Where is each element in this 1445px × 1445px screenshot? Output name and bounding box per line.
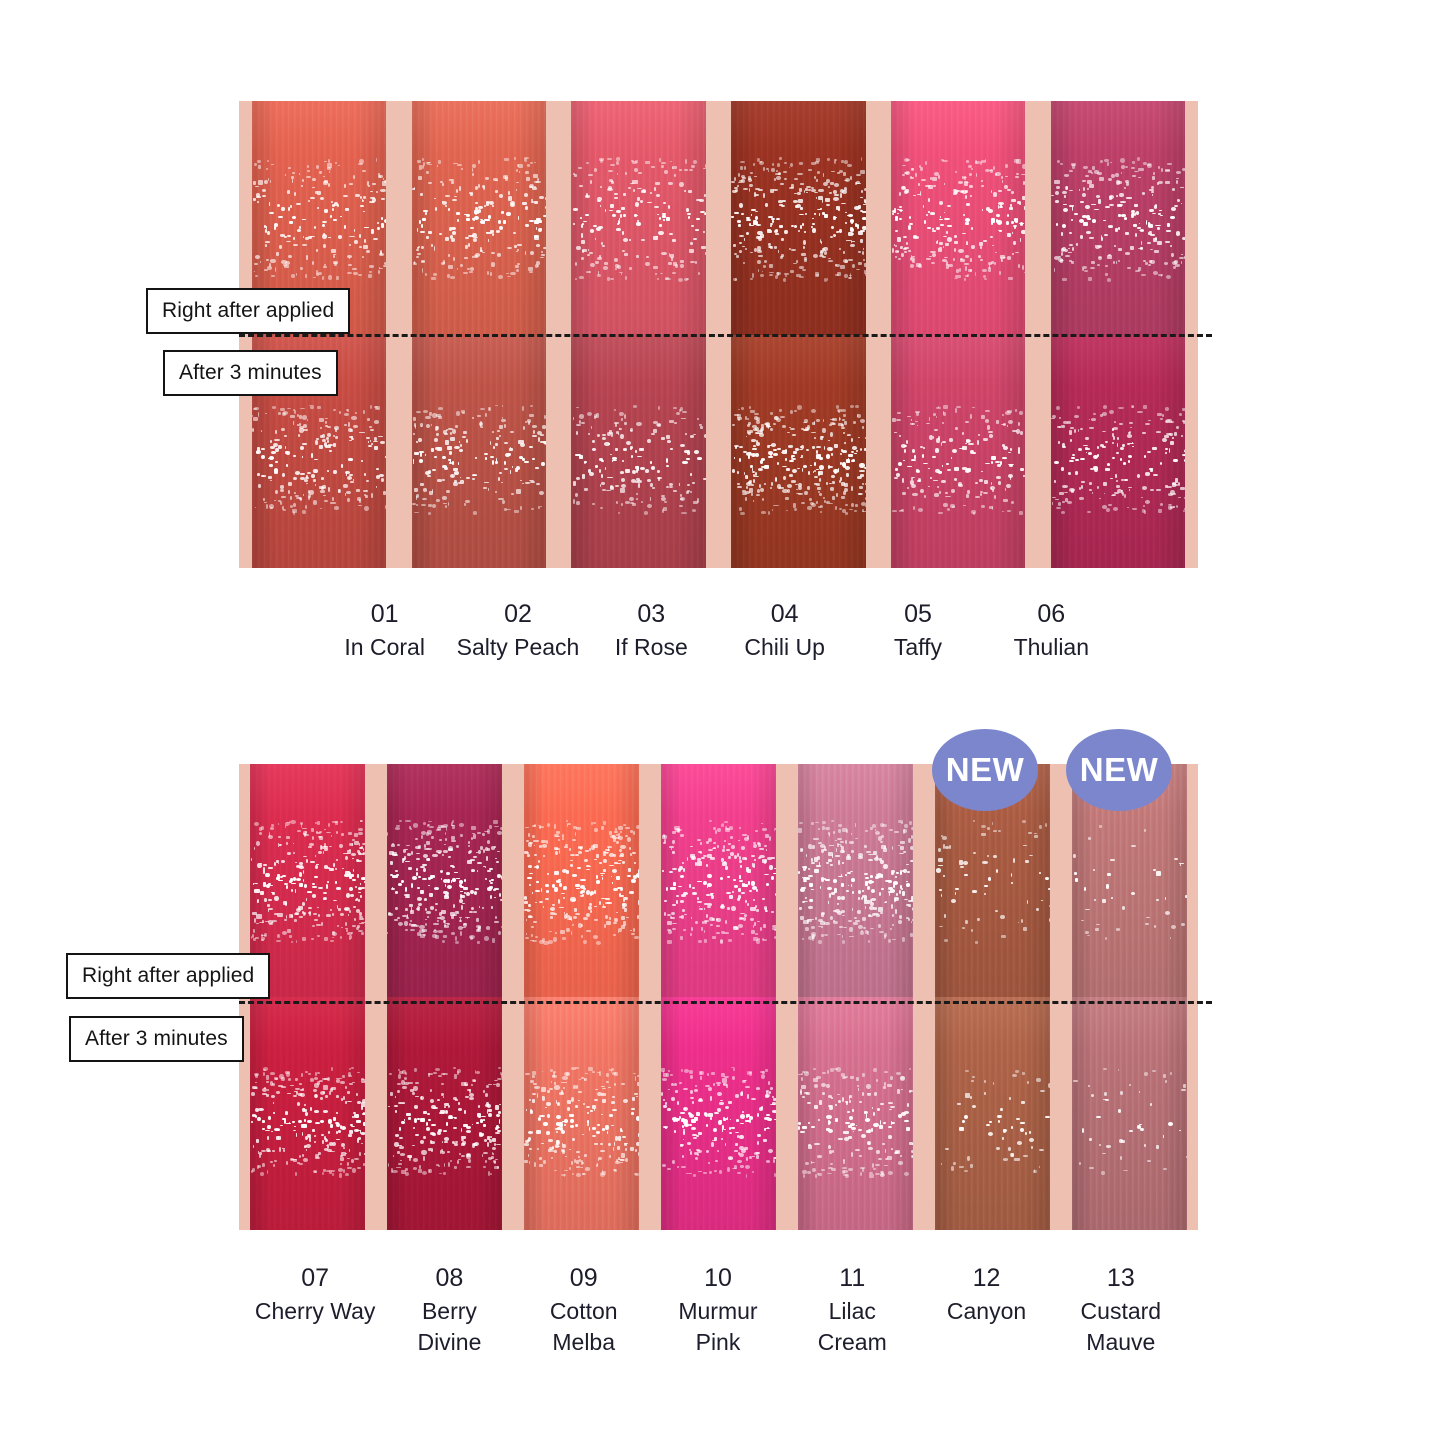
swatch-column-10 xyxy=(650,764,787,1230)
shade-number: 06 xyxy=(985,598,1118,632)
shade-caption-12: 12Canyon xyxy=(919,1262,1053,1358)
shade-caption-10: 10Murmur Pink xyxy=(651,1262,785,1358)
shade-name: Chili Up xyxy=(718,632,851,663)
swatch-stripe xyxy=(571,101,705,335)
new-badge-canyon: NEW xyxy=(932,729,1038,811)
time-divider-line xyxy=(239,1001,1212,1004)
shade-caption-07: 07Cherry Way xyxy=(248,1262,382,1358)
swatch-board xyxy=(239,764,1198,1230)
label-right-after-applied-2: Right after applied xyxy=(66,953,270,999)
shade-name: Lilac Cream xyxy=(785,1296,919,1358)
swatch-top-gloss xyxy=(935,997,1050,1230)
label-after-3-minutes-1: After 3 minutes xyxy=(163,350,338,396)
swatch-top-gloss xyxy=(661,764,776,997)
swatch-panel-07-13 xyxy=(239,764,1198,1230)
shade-name: Canyon xyxy=(919,1296,1053,1327)
swatch-top-gloss xyxy=(387,764,502,997)
shade-name: Taffy xyxy=(851,632,984,663)
swatch-stripe xyxy=(524,997,639,1230)
swatch-top-gloss xyxy=(661,997,776,1230)
shade-caption-08: 08Berry Divine xyxy=(382,1262,516,1358)
swatch-stripe xyxy=(250,997,365,1230)
swatch-column-12 xyxy=(924,764,1061,1230)
swatch-stripe xyxy=(387,764,502,997)
shade-name: Custard Mauve xyxy=(1054,1296,1188,1358)
shade-number: 12 xyxy=(919,1262,1053,1296)
shade-caption-04: 04Chili Up xyxy=(718,598,851,663)
swatch-stripe xyxy=(661,764,776,997)
shade-number: 09 xyxy=(517,1262,651,1296)
shade-number: 03 xyxy=(585,598,718,632)
swatch-stripe xyxy=(798,764,913,997)
swatch-column-09 xyxy=(513,764,650,1230)
shade-caption-09: 09Cotton Melba xyxy=(517,1262,651,1358)
label-after-3-minutes-2: After 3 minutes xyxy=(69,1016,244,1062)
swatch-top-gloss xyxy=(571,335,705,569)
swatch-stripe xyxy=(1051,101,1185,335)
swatch-stripe xyxy=(1051,335,1185,569)
swatch-stripe xyxy=(731,101,865,335)
shade-caption-03: 03If Rose xyxy=(585,598,718,663)
swatch-strip xyxy=(798,764,913,1230)
swatch-stripe xyxy=(387,997,502,1230)
shade-caption-11: 11Lilac Cream xyxy=(785,1262,919,1358)
swatch-strip xyxy=(524,764,639,1230)
swatch-top-gloss xyxy=(1051,335,1185,569)
swatch-strip xyxy=(661,764,776,1230)
label-right-after-applied-1: Right after applied xyxy=(146,288,350,334)
swatch-stripe xyxy=(661,997,776,1230)
time-divider-line xyxy=(239,334,1212,337)
shade-captions-07-13: 07Cherry Way08Berry Divine09Cotton Melba… xyxy=(248,1262,1188,1358)
swatch-stripe xyxy=(935,997,1050,1230)
shade-captions-01-06: 01In Coral02Salty Peach03If Rose04Chili … xyxy=(318,598,1118,663)
swatch-top-gloss xyxy=(891,335,1025,569)
shade-name: In Coral xyxy=(318,632,451,663)
swatch-top-gloss xyxy=(798,997,913,1230)
swatch-top-gloss xyxy=(731,335,865,569)
swatch-strip xyxy=(1072,764,1187,1230)
swatch-panel-01-06 xyxy=(239,101,1198,568)
shade-number: 02 xyxy=(451,598,584,632)
swatch-strip xyxy=(387,764,502,1230)
swatch-column-13 xyxy=(1061,764,1198,1230)
swatch-top-gloss xyxy=(1072,997,1187,1230)
shade-name: Cotton Melba xyxy=(517,1296,651,1358)
swatch-top-gloss xyxy=(524,764,639,997)
swatch-top-gloss xyxy=(1051,101,1185,335)
swatch-top-gloss xyxy=(412,101,546,335)
swatch-column-08 xyxy=(376,764,513,1230)
swatch-top-gloss xyxy=(412,335,546,569)
shade-number: 05 xyxy=(851,598,984,632)
shade-name: Cherry Way xyxy=(248,1296,382,1327)
shade-caption-05: 05Taffy xyxy=(851,598,984,663)
shade-number: 08 xyxy=(382,1262,516,1296)
shade-name: Murmur Pink xyxy=(651,1296,785,1358)
swatch-stripe xyxy=(891,101,1025,335)
shade-number: 13 xyxy=(1054,1262,1188,1296)
shade-name: Salty Peach xyxy=(451,632,584,663)
swatch-stripe xyxy=(731,335,865,569)
shade-caption-02: 02Salty Peach xyxy=(451,598,584,663)
new-badge-custard-mauve: NEW xyxy=(1066,729,1172,811)
shade-number: 11 xyxy=(785,1262,919,1296)
swatch-stripe xyxy=(412,335,546,569)
swatch-stripe xyxy=(798,997,913,1230)
shade-caption-06: 06Thulian xyxy=(985,598,1118,663)
swatch-top-gloss xyxy=(891,101,1025,335)
shade-caption-13: 13Custard Mauve xyxy=(1054,1262,1188,1358)
swatch-top-gloss xyxy=(524,997,639,1230)
shade-number: 10 xyxy=(651,1262,785,1296)
swatch-top-gloss xyxy=(387,997,502,1230)
swatch-strip xyxy=(935,764,1050,1230)
swatch-column-11 xyxy=(787,764,924,1230)
shade-name: Berry Divine xyxy=(382,1296,516,1358)
shade-caption-01: 01In Coral xyxy=(318,598,451,663)
swatch-stripe xyxy=(571,335,705,569)
shade-name: If Rose xyxy=(585,632,718,663)
shade-number: 04 xyxy=(718,598,851,632)
swatch-stripe xyxy=(891,335,1025,569)
shade-number: 01 xyxy=(318,598,451,632)
swatch-top-gloss xyxy=(250,997,365,1230)
swatch-top-gloss xyxy=(731,101,865,335)
swatch-stripe xyxy=(524,764,639,997)
swatch-top-gloss xyxy=(798,764,913,997)
swatch-top-gloss xyxy=(571,101,705,335)
swatch-stripe xyxy=(1072,997,1187,1230)
swatch-stripe xyxy=(412,101,546,335)
shade-name: Thulian xyxy=(985,632,1118,663)
shade-number: 07 xyxy=(248,1262,382,1296)
swatch-columns xyxy=(239,764,1198,1230)
